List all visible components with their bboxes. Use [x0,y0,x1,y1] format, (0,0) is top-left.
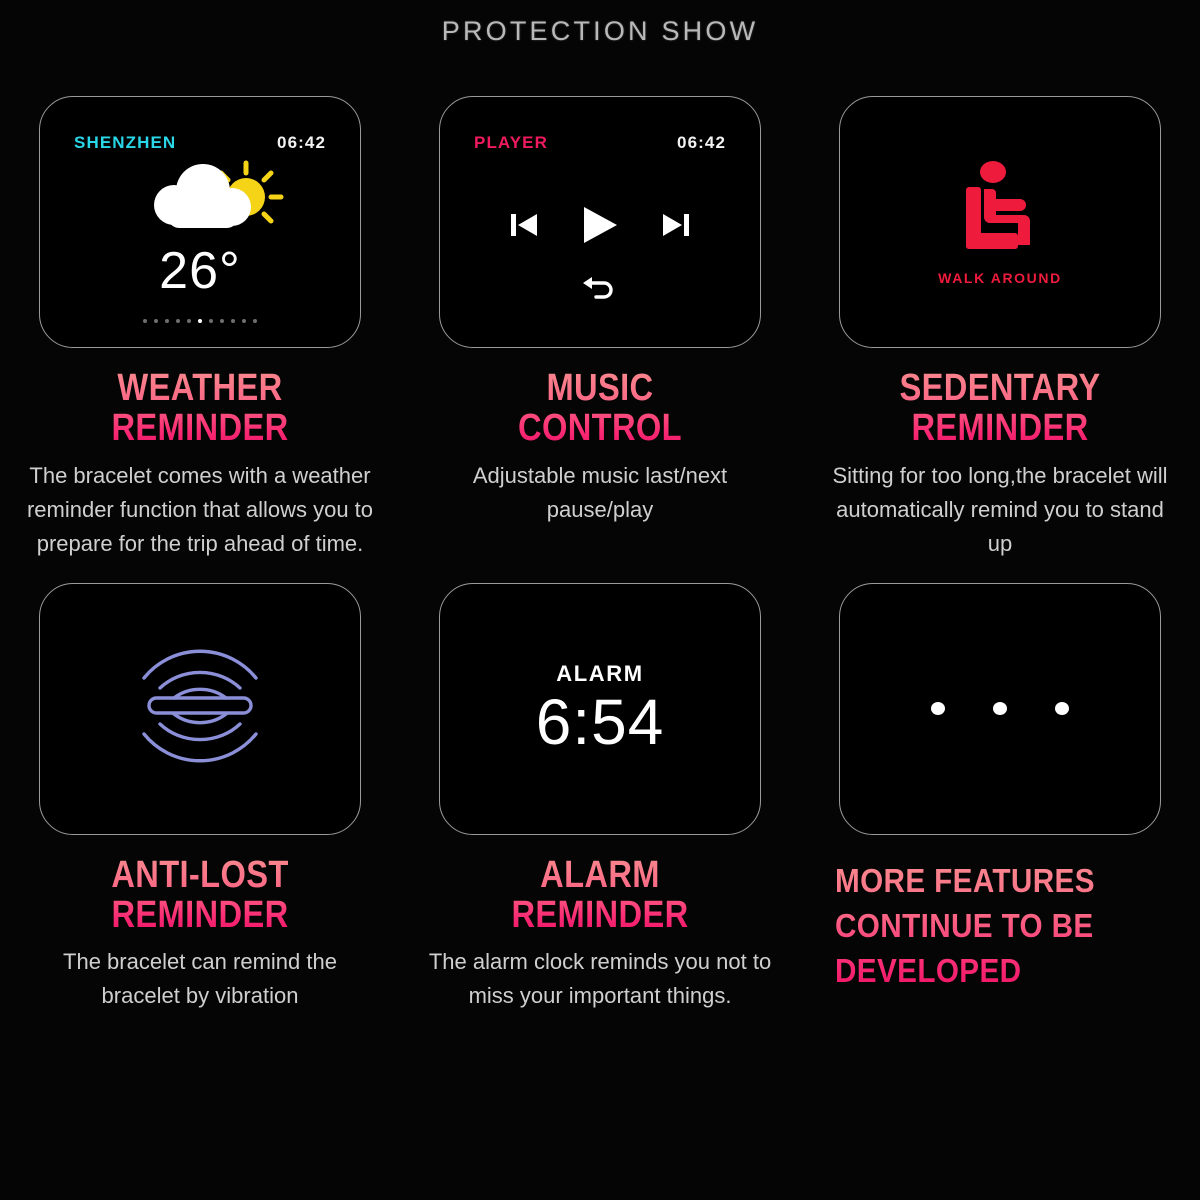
sedentary-title: SEDENTARY REMINDER [847,368,1153,449]
play-icon[interactable] [581,205,619,245]
weather-status-bar: SHENZHEN 06:42 [40,133,360,153]
feature-row-1: SHENZHEN 06:42 [0,96,1200,561]
alarm-screen[interactable]: ALARM 6:54 [439,583,761,835]
sun-behind-cloud-icon [40,159,360,243]
feature-card-more: MORE FEATURES CONTINUE TO BE DEVELOPED [800,583,1200,1014]
next-track-icon[interactable] [661,211,691,239]
sedentary-screen[interactable]: WALK AROUND [839,96,1161,348]
anti-lost-title: ANTI-LOST REMINDER [47,855,353,936]
music-label: PLAYER [474,133,548,153]
alarm-content: ALARM 6:54 [440,584,760,834]
music-time: 06:42 [677,133,726,153]
more-dots-screen[interactable] [839,583,1161,835]
vibration-screen[interactable] [39,583,361,835]
weather-time: 06:42 [277,133,326,153]
alarm-caption: ALARM REMINDER The alarm clock reminds y… [422,855,778,1014]
sedentary-caption: SEDENTARY REMINDER Sitting for too long,… [822,368,1178,561]
feature-row-2: ANTI-LOST REMINDER The bracelet can remi… [0,583,1200,1014]
music-caption: MUSIC CONTROL Adjustable music last/next… [422,368,778,527]
vibration-waves-icon [128,644,272,773]
music-player-screen[interactable]: PLAYER 06:42 [439,96,761,348]
feature-card-alarm: ALARM 6:54 ALARM REMINDER The alarm cloc… [400,583,800,1014]
weather-temperature: 26° [40,245,360,297]
music-back-row [440,273,760,308]
music-status-bar: PLAYER 06:42 [440,133,760,153]
music-title: MUSIC CONTROL [447,368,753,449]
music-description: Adjustable music last/next pause/play [422,459,778,527]
three-dots-icon [840,584,1160,834]
sedentary-screen-label: WALK AROUND [938,270,1062,286]
weather-page-dots[interactable] [40,319,360,323]
weather-caption: WEATHER REMINDER The bracelet comes with… [22,368,378,561]
feature-card-weather: SHENZHEN 06:42 [0,96,400,561]
feature-card-music: PLAYER 06:42 [400,96,800,561]
weather-title: WEATHER REMINDER [47,368,353,449]
feature-card-anti-lost: ANTI-LOST REMINDER The bracelet can remi… [0,583,400,1014]
alarm-screen-label: ALARM [556,661,643,687]
alarm-title: ALARM REMINDER [447,855,753,936]
alarm-screen-time: 6:54 [536,689,665,756]
sitting-person-icon [946,159,1054,260]
music-transport-controls [440,205,760,245]
weather-screen[interactable]: SHENZHEN 06:42 [39,96,361,348]
anti-lost-caption: ANTI-LOST REMINDER The bracelet can remi… [22,855,378,1014]
vibration-content [40,584,360,834]
more-caption: MORE FEATURES CONTINUE TO BE DEVELOPED [835,859,1165,994]
previous-track-icon[interactable] [509,211,539,239]
return-arrow-icon[interactable] [580,273,620,308]
weather-description: The bracelet comes with a weather remind… [22,459,378,561]
sedentary-description: Sitting for too long,the bracelet will a… [822,459,1178,561]
sedentary-content: WALK AROUND [840,97,1160,347]
more-title: MORE FEATURES CONTINUE TO BE DEVELOPED [835,859,1132,994]
page-title: PROTECTION SHOW [0,16,1200,47]
weather-location: SHENZHEN [74,133,176,153]
feature-grid: SHENZHEN 06:42 [0,96,1200,1014]
feature-card-sedentary: WALK AROUND SEDENTARY REMINDER Sitting f… [800,96,1200,561]
alarm-description: The alarm clock reminds you not to miss … [422,945,778,1013]
anti-lost-description: The bracelet can remind the bracelet by … [22,945,378,1013]
